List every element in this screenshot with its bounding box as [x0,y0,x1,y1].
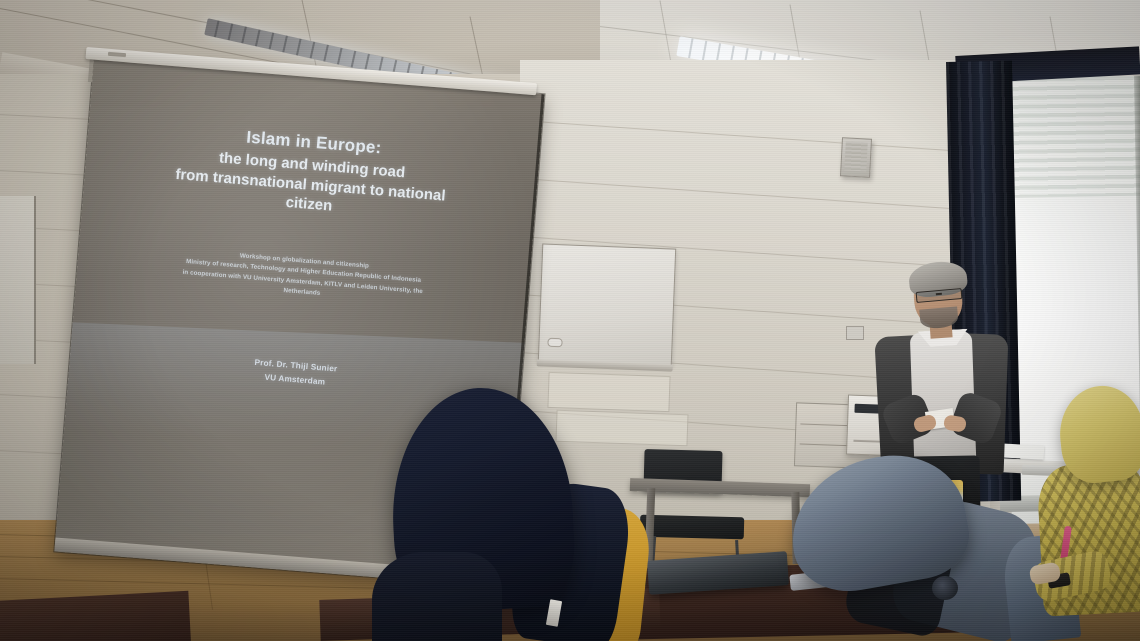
presenter-beard [919,306,959,329]
screen-housing-label [108,52,126,57]
attendee-blue-hijab [782,452,1032,641]
foreground-dark-mass [0,591,191,641]
slide-subtitle: Workshop on globalization and citizenshi… [102,241,504,314]
attendee-navy-hijab [372,388,628,641]
wall-speaker-icon [840,137,872,178]
hijab-brooch-icon [932,576,958,600]
attendee-shoulder [372,552,502,641]
window-blinds [1004,76,1140,198]
wall-outlet-icon [846,326,864,340]
attendee-yellow-patterned [1034,386,1140,641]
whiteboard [538,243,676,366]
left-wall-board [0,196,36,364]
whiteboard-knob-icon [547,338,562,348]
lecture-room-photo: Islam in Europe: the long and winding ro… [0,0,1140,641]
